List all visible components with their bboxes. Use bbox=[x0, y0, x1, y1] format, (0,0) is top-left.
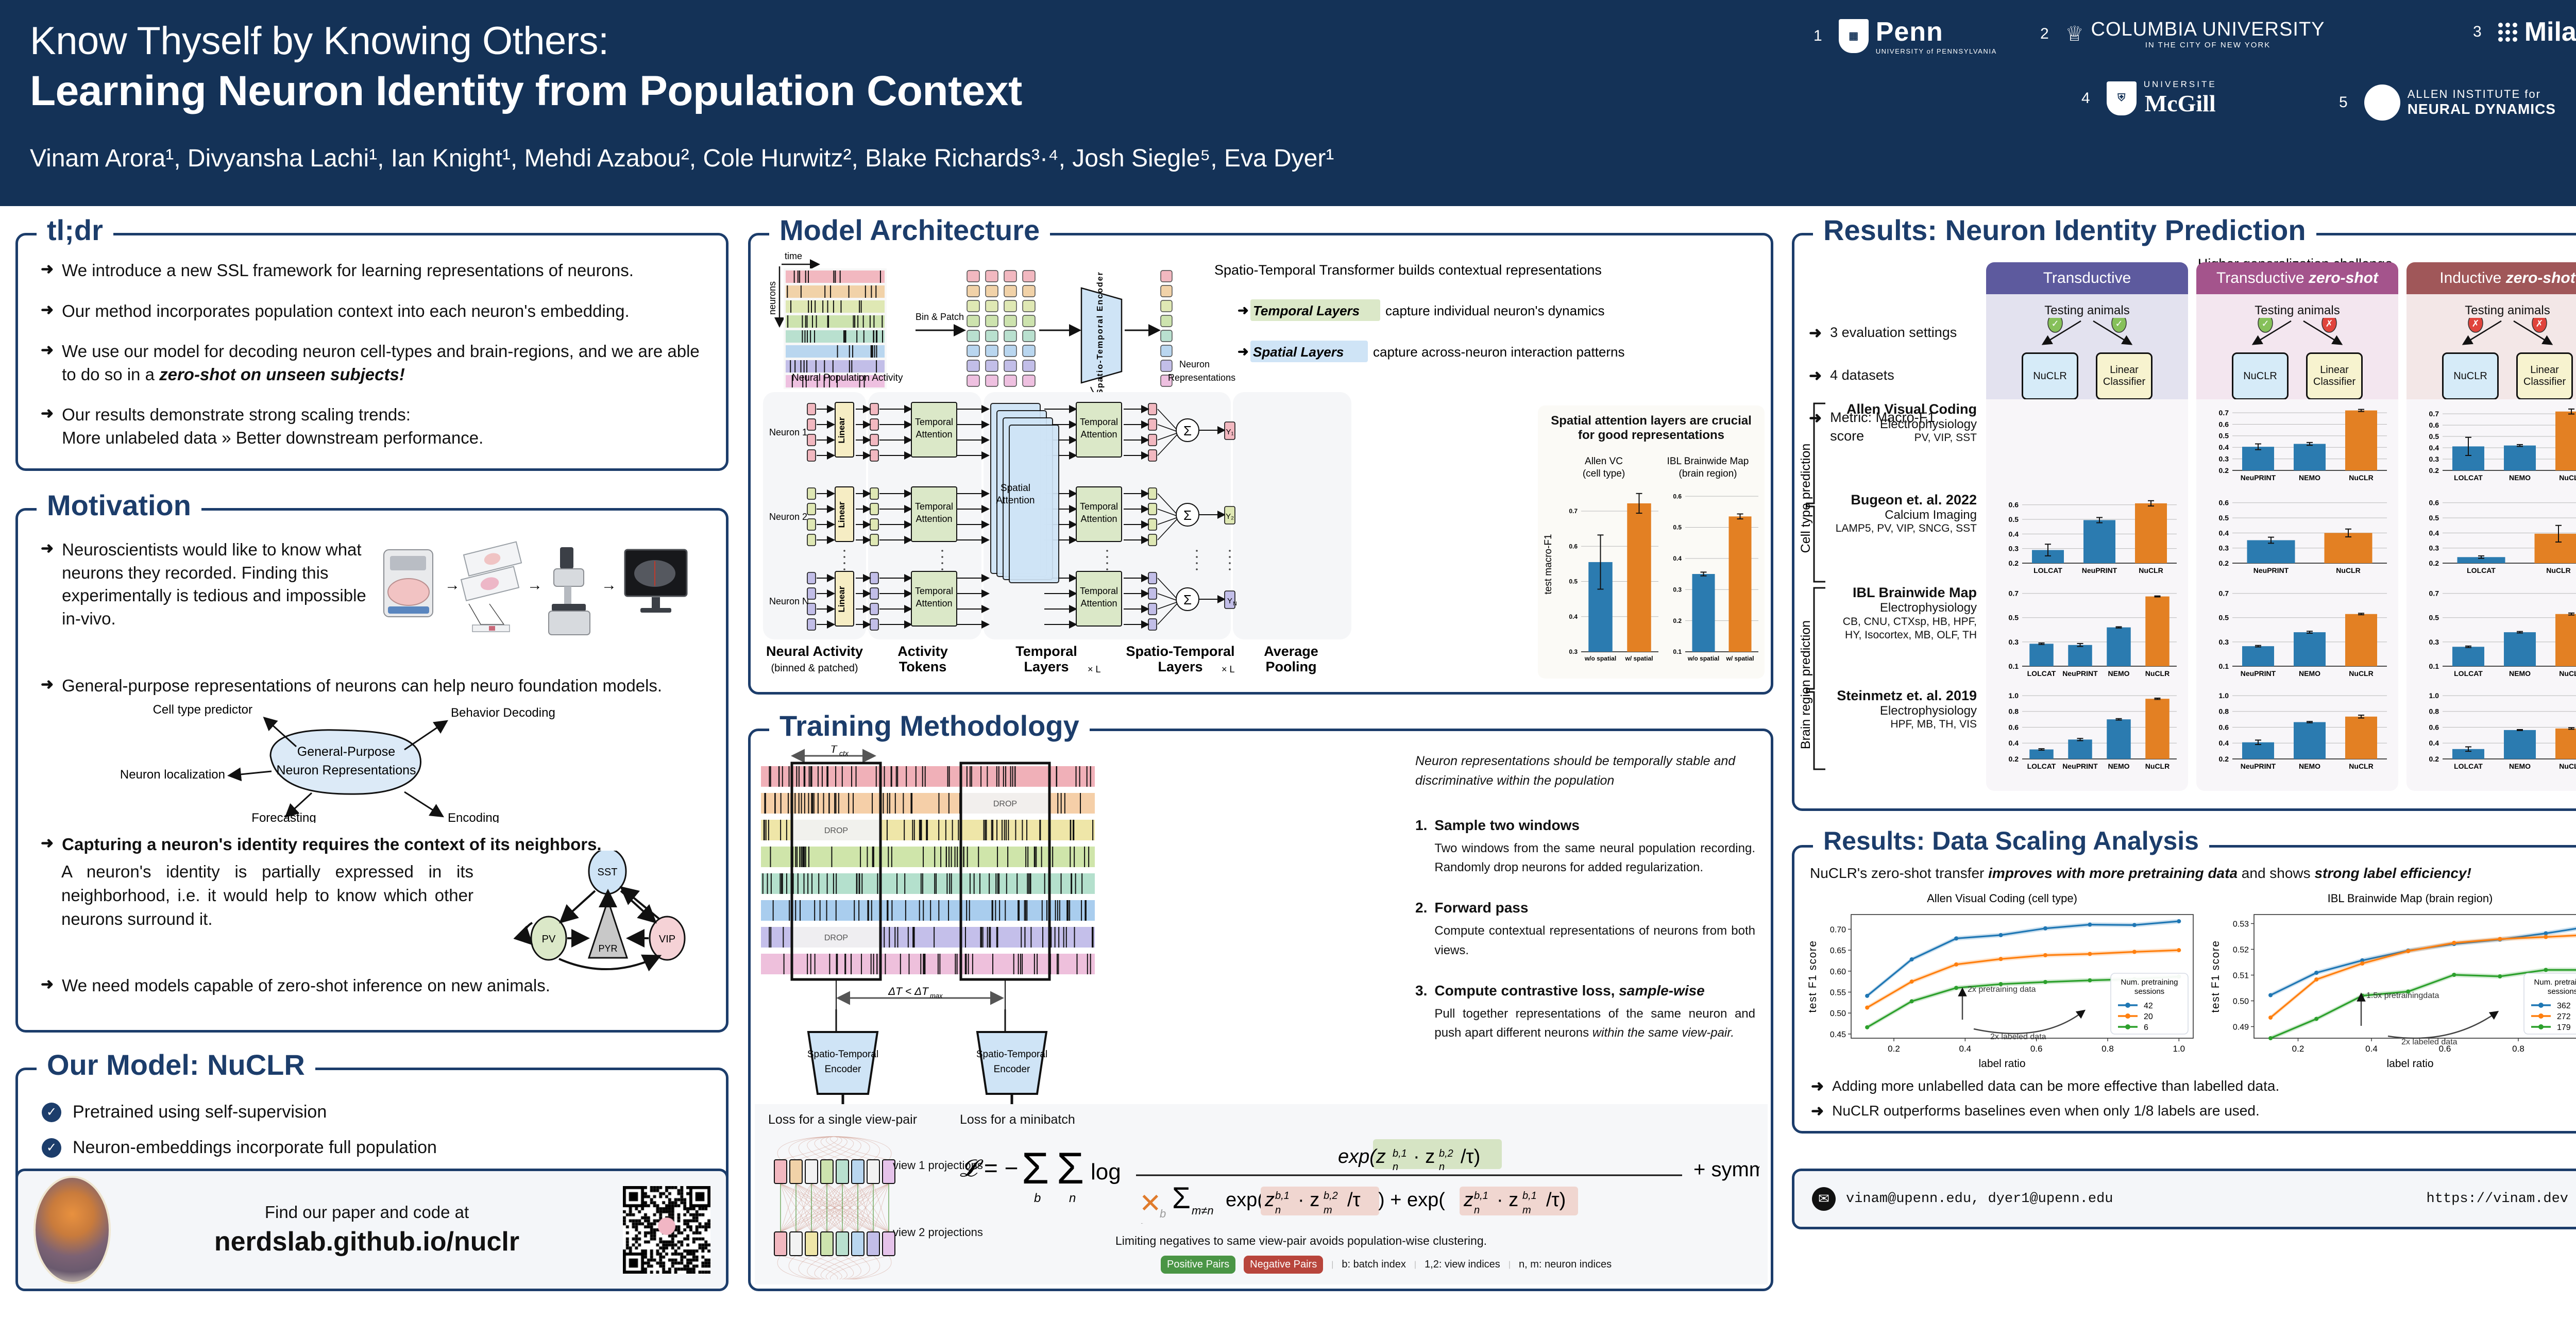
check-icon: ✓ bbox=[42, 1138, 61, 1158]
svg-text:Temporal: Temporal bbox=[1080, 501, 1118, 512]
setting-column-0: Transductive Testing animals ✓ ✓ NuCLR L… bbox=[1986, 262, 2188, 404]
page-title-line1: Know Thyself by Knowing Others: bbox=[30, 19, 609, 63]
panel-model-architecture: Model Architecture time neurons Bin & Pa… bbox=[748, 233, 1773, 695]
svg-text:0.53: 0.53 bbox=[2233, 920, 2249, 929]
svg-text:2x labeled data: 2x labeled data bbox=[2401, 1038, 2458, 1046]
svg-text:0.1: 0.1 bbox=[2009, 662, 2019, 670]
hub-spoke-diagram: General-Purpose Neuron Representations C… bbox=[95, 699, 626, 823]
training-step-2: 2. Forward pass Compute contextual repre… bbox=[1415, 900, 1755, 959]
tldr-bullet-1-text: We introduce a new SSL framework for lea… bbox=[62, 259, 634, 282]
columbia-name: COLUMBIA UNIVERSITY bbox=[2091, 19, 2325, 40]
chart-transductive-ibl: 0.10.30.50.7LOLCATNeuPRINTNEMONuCLR bbox=[1992, 586, 2182, 681]
step-3-title-em: sample-wise bbox=[1619, 983, 1705, 999]
svg-text:/τ: /τ bbox=[1347, 1189, 1361, 1211]
mila-name: Mila bbox=[2524, 16, 2576, 47]
architecture-overview-diagram: time neurons Bin & Patch Spatio-Temporal… bbox=[761, 248, 1766, 408]
setting-em: zero-shot bbox=[2506, 269, 2575, 286]
svg-text:0.6: 0.6 bbox=[2009, 501, 2019, 509]
svg-text:0.6: 0.6 bbox=[2429, 723, 2439, 731]
chart-izs-bugeon: 0.20.30.40.50.6LOLCATNuCLR bbox=[2413, 493, 2576, 578]
qr-code-icon[interactable] bbox=[623, 1186, 710, 1274]
bar-label: NEMO bbox=[2509, 762, 2531, 770]
dataset-list: Allen Visual Coding Electrophysiology PV… bbox=[1835, 401, 1977, 731]
scaling-headline-em2: strong label efficiency! bbox=[2314, 865, 2471, 881]
group-label-cell-type: Cell type prediction bbox=[1799, 444, 1813, 553]
svg-text:0.55: 0.55 bbox=[1830, 989, 1846, 997]
logo-columbia: ♕ COLUMBIA UNIVERSITY IN THE CITY OF NEW… bbox=[2065, 19, 2325, 49]
dataset-row-allen: Allen Visual Coding Electrophysiology PV… bbox=[1835, 401, 1977, 492]
prediction-group-braces: Cell type prediction Brain region predic… bbox=[1799, 400, 1835, 792]
svg-text:0.3: 0.3 bbox=[2219, 544, 2229, 552]
bar-label: NEMO bbox=[2108, 762, 2130, 770]
svg-text:0.6: 0.6 bbox=[2009, 723, 2019, 731]
bar-label: LOLCAT bbox=[2454, 669, 2483, 678]
legend-entry: 272 bbox=[2557, 1012, 2571, 1021]
dataset-row-ibl: IBL Brainwide Map Electrophysiology CB, … bbox=[1835, 585, 1977, 688]
arrow-icon: ➜ bbox=[41, 674, 54, 698]
cross-icon: ✗ bbox=[2535, 318, 2543, 329]
motivation-bullet-1: ➜ Neuroscientists would like to know wha… bbox=[41, 538, 370, 630]
loss-equation-strip: Loss for a single view-pair Loss for a m… bbox=[755, 1104, 1768, 1284]
model-feature-1-text: Pretrained using self-supervision bbox=[73, 1102, 327, 1122]
svg-text:b: b bbox=[1034, 1191, 1041, 1205]
chart-izs-allen: 0.20.30.40.50.60.7LOLCATNEMONuCLR bbox=[2413, 402, 2576, 485]
svg-text:0.5: 0.5 bbox=[2009, 515, 2019, 523]
lab-brain-logo-icon bbox=[33, 1176, 111, 1284]
allen-swirl-icon bbox=[2364, 84, 2400, 121]
scaling-headline: NuCLR's zero-shot transfer improves with… bbox=[1810, 865, 2576, 882]
svg-text:b,2: b,2 bbox=[1439, 1148, 1453, 1159]
svg-text:0.2: 0.2 bbox=[2429, 755, 2439, 763]
step-2-body: Compute contextual representations of ne… bbox=[1434, 921, 1755, 959]
stage-sub-temporal-layers: Layers bbox=[1024, 659, 1069, 674]
svg-text:0.2: 0.2 bbox=[2219, 559, 2229, 567]
temporal-layers-rest: capture individual neuron's dynamics bbox=[1385, 303, 1605, 318]
svg-text:0.4: 0.4 bbox=[2429, 739, 2439, 747]
logo-allen: ALLEN INSTITUTE for NEURAL DYNAMICS bbox=[2364, 84, 2556, 121]
svg-text:0.3: 0.3 bbox=[2429, 544, 2439, 552]
stage-label-spatiotemporal-layers: Spatio-Temporal bbox=[1126, 644, 1234, 659]
svg-text:Num. pretraining: Num. pretraining bbox=[2121, 978, 2178, 987]
svg-text:· z: · z bbox=[1413, 1146, 1435, 1168]
svg-text:0.2: 0.2 bbox=[2009, 755, 2019, 763]
svg-text:→: → bbox=[527, 577, 543, 594]
svg-text:0.5: 0.5 bbox=[2429, 514, 2439, 522]
temporal-layers-em: Temporal Layers bbox=[1253, 303, 1360, 318]
bar-label: NEMO bbox=[2299, 762, 2320, 770]
svg-text:DROP: DROP bbox=[824, 826, 848, 835]
arrow-icon: ➜ bbox=[41, 538, 54, 630]
envelope-icon: ✉ bbox=[1812, 1187, 1836, 1211]
setting-header-1: Transductive zero-shot bbox=[2196, 262, 2398, 294]
contact-email-text: vinam@upenn.edu, dyer1@upenn.edu bbox=[1846, 1191, 2113, 1207]
cross-icon: ✗ bbox=[2471, 318, 2479, 329]
svg-text:0.2: 0.2 bbox=[2219, 466, 2229, 475]
svg-text:ctx: ctx bbox=[839, 749, 849, 757]
dataset-classes-allen: PV, VIP, SST bbox=[1835, 432, 1977, 444]
penn-crest-icon: ▦ bbox=[1839, 19, 1869, 53]
svg-text:0.4: 0.4 bbox=[2219, 739, 2229, 747]
svg-text:z: z bbox=[1463, 1189, 1473, 1211]
bar-label: NuCLR bbox=[2559, 762, 2576, 770]
svg-text:Attention: Attention bbox=[916, 429, 952, 439]
bar-label: LOLCAT bbox=[2027, 669, 2056, 678]
bar-label: NEMO bbox=[2299, 474, 2320, 482]
scaling-bullet-1-text: Adding more unlabelled data can be more … bbox=[1832, 1076, 2279, 1097]
arch-headline: Spatio-Temporal Transformer builds conte… bbox=[1214, 262, 1602, 278]
panel-motivation: Motivation ➜ Neuroscientists would like … bbox=[15, 508, 728, 1033]
svg-text:b,1: b,1 bbox=[1393, 1148, 1407, 1159]
bar-label: LOLCAT bbox=[2454, 474, 2483, 482]
setting-header-2: Inductive zero-shot bbox=[2406, 262, 2576, 294]
columbia-sub: IN THE CITY OF NEW YORK bbox=[2091, 41, 2325, 49]
svg-text:label ratio: label ratio bbox=[1978, 1058, 2025, 1070]
svg-text:0.8: 0.8 bbox=[2219, 707, 2229, 716]
motivation-bullet-2-text: General-purpose representations of neuro… bbox=[62, 674, 662, 698]
step-1-body: Two windows from the same neural populat… bbox=[1434, 839, 1755, 877]
mcgill-name: McGill bbox=[2145, 90, 2216, 116]
svg-text:0.7: 0.7 bbox=[2429, 410, 2439, 418]
panel-title-results-scaling: Results: Data Scaling Analysis bbox=[1813, 828, 2209, 854]
training-step-1: 1. Sample two windows Two windows from t… bbox=[1415, 817, 1755, 877]
svg-text:0.6: 0.6 bbox=[2219, 723, 2229, 731]
svg-text:0.45: 0.45 bbox=[1830, 1030, 1846, 1039]
testing-animals-label: Testing animals bbox=[2406, 294, 2576, 318]
step-3-body-em: within the same view-pair. bbox=[1592, 1026, 1734, 1040]
panel-tldr: tl;dr ➜ We introduce a new SSL framework… bbox=[15, 233, 728, 471]
panel-title-tldr: tl;dr bbox=[37, 216, 113, 245]
step-2-number: 2. bbox=[1415, 900, 1427, 959]
results-bullet-2-text: 4 datasets bbox=[1830, 366, 1894, 387]
svg-text:0.7: 0.7 bbox=[1569, 508, 1578, 515]
bar-label: NeuPRINT bbox=[2062, 762, 2098, 770]
tldr-bullet-3-em: zero-shot on unseen subjects! bbox=[159, 365, 405, 384]
spoke-forecasting: Forecasting bbox=[251, 811, 316, 823]
setting-body-2: Testing animals ✗ ✗ NuCLR LinearClassifi… bbox=[2406, 294, 2576, 404]
stage-sub-spatiotemporal-layers: Layers bbox=[1158, 659, 1202, 674]
svg-text:m: m bbox=[1324, 1205, 1332, 1216]
spatial-ablation-inset: Spatial attention layers are crucial for… bbox=[1538, 405, 1765, 679]
model-box-linear-classifier: LinearClassifier bbox=[2516, 352, 2573, 400]
svg-text:DROP: DROP bbox=[824, 934, 848, 942]
circuit-node-pv: PV bbox=[542, 934, 556, 945]
tldr-bullet-2: ➜ Our method incorporates population con… bbox=[41, 300, 705, 323]
motivation-bullet-3-rest: A neuron's identity is partially express… bbox=[61, 860, 473, 932]
logo-mila: Mila bbox=[2498, 16, 2576, 47]
panel-title-training: Training Methodology bbox=[769, 712, 1090, 740]
svg-text:+ symm.: + symm. bbox=[1693, 1158, 1759, 1181]
bar-label: NeuPRINT bbox=[2082, 566, 2117, 574]
model-box-nuclr: NuCLR bbox=[2442, 352, 2499, 400]
view2-label: view 2 projections bbox=[893, 1226, 983, 1239]
svg-text:(brain region): (brain region) bbox=[1679, 468, 1737, 479]
stage-label-activity-tokens: Activity bbox=[897, 644, 948, 659]
legend-neuron-indices: n, m: neuron indices bbox=[1519, 1259, 1612, 1271]
contact-website[interactable]: https://vinam.dev ⊕ bbox=[2427, 1187, 2576, 1211]
setting-header-0: Transductive bbox=[1986, 262, 2188, 294]
svg-text:0.49: 0.49 bbox=[2233, 1023, 2249, 1032]
svg-text:n: n bbox=[1474, 1205, 1480, 1216]
results-bullet-2: ➜ 4 datasets bbox=[1809, 366, 1963, 387]
equation-legend: Positive Pairs Negative Pairs | b: batch… bbox=[1161, 1256, 1612, 1274]
svg-text:➜: ➜ bbox=[1238, 302, 1249, 318]
contact-email[interactable]: ✉ vinam@upenn.edu, dyer1@upenn.edu bbox=[1812, 1187, 2113, 1211]
view-pair-projection-graph bbox=[765, 1130, 956, 1279]
panel-title-results-identity: Results: Neuron Identity Prediction bbox=[1813, 216, 2316, 245]
panel-results-identity: Results: Neuron Identity Prediction High… bbox=[1792, 233, 2576, 811]
model-feature-2-text: Neuron-embeddings incorporate full popul… bbox=[73, 1138, 437, 1158]
setting-charts-0: 0.20.30.40.50.6LOLCATNeuPRINTNuCLR0.10.3… bbox=[1986, 399, 2188, 791]
dataset-modality-allen: Electrophysiology bbox=[1835, 417, 1977, 432]
svg-text:Attention: Attention bbox=[916, 598, 952, 608]
setting-body-1: Testing animals ✓ ✗ NuCLR LinearClassifi… bbox=[2196, 294, 2398, 404]
affiliation-number-3: 3 bbox=[2473, 23, 2482, 41]
neuron-reps-label-1: Neuron bbox=[1179, 359, 1210, 369]
svg-text:Temporal: Temporal bbox=[1080, 586, 1118, 596]
tctx-label: T bbox=[831, 746, 838, 755]
loss-batch-title: Loss for a minibatch bbox=[960, 1112, 1075, 1127]
svg-text:0.1: 0.1 bbox=[1673, 648, 1682, 655]
repeat-st-label: × L bbox=[1222, 664, 1235, 674]
svg-text:0.50: 0.50 bbox=[1830, 1009, 1846, 1018]
scaling-bullet-2: ➜ NuCLR outperforms baselines even when … bbox=[1811, 1101, 2260, 1122]
svg-text:Σ: Σ bbox=[1183, 592, 1192, 607]
svg-text:Temporal: Temporal bbox=[915, 501, 953, 512]
svg-text:0.6: 0.6 bbox=[2429, 421, 2439, 429]
svg-text:Attention: Attention bbox=[916, 514, 952, 524]
arrow-icon: ➜ bbox=[1809, 366, 1822, 387]
tldr-bullet-4-text: Our results demonstrate strong scaling t… bbox=[62, 403, 483, 449]
setting-body-0: Testing animals ✓ ✓ NuCLR LinearClassifi… bbox=[1986, 294, 2188, 404]
svg-text:Σ: Σ bbox=[1183, 423, 1192, 438]
panel-title-our-model: Our Model: NuCLR bbox=[37, 1051, 315, 1079]
svg-text:Attention: Attention bbox=[1080, 514, 1117, 524]
legend-entry: 42 bbox=[2144, 1002, 2153, 1010]
spoke-behavior-decoding: Behavior Decoding bbox=[451, 706, 555, 720]
mcgill-crest-icon: ⛨ bbox=[2107, 81, 2137, 115]
bin-patch-label: Bin & Patch bbox=[916, 312, 964, 322]
dataset-classes-ibl: CB, CNU, CTXsp, HB, HPF, HY, Isocortex, … bbox=[1835, 615, 1977, 642]
svg-text:0.4: 0.4 bbox=[2009, 530, 2019, 538]
svg-text:0.3: 0.3 bbox=[2219, 455, 2229, 463]
svg-text:0.8: 0.8 bbox=[2429, 707, 2439, 716]
svg-text:N: N bbox=[1233, 601, 1237, 607]
axis-label-time: time bbox=[785, 251, 802, 261]
bar-label: NuCLR bbox=[2559, 474, 2576, 482]
svg-text:b,1: b,1 bbox=[1474, 1190, 1488, 1202]
dataset-modality-bugeon: Calcium Imaging bbox=[1835, 508, 1977, 522]
svg-text:0.7: 0.7 bbox=[2009, 589, 2019, 598]
svg-text:Attention: Attention bbox=[1080, 598, 1117, 608]
motivation-bullet-1-text: Neuroscientists would like to know what … bbox=[62, 538, 370, 630]
bar-label: NuCLR bbox=[2559, 669, 2576, 678]
bar-label: NuCLR bbox=[2349, 762, 2373, 770]
svg-text:0.5: 0.5 bbox=[2429, 432, 2439, 441]
view2-text: view 2 projections bbox=[893, 1226, 983, 1239]
contact-website-text: https://vinam.dev bbox=[2427, 1191, 2568, 1207]
dataset-row-steinmetz: Steinmetz et. al. 2019 Electrophysiology… bbox=[1835, 688, 1977, 731]
svg-text:test F1 score: test F1 score bbox=[1807, 940, 1819, 1013]
bar-label: w/ spatial bbox=[1725, 655, 1754, 662]
svg-text:Neuron N: Neuron N bbox=[769, 596, 809, 606]
bar-label: w/o spatial bbox=[1687, 655, 1719, 662]
svg-text:DROP: DROP bbox=[993, 800, 1017, 808]
svg-text:Σ: Σ bbox=[1172, 1181, 1191, 1215]
dataset-name-ibl: IBL Brainwide Map bbox=[1835, 585, 1977, 601]
chart-tzs-allen: 0.20.30.40.50.60.7NeuPRINTNEMONuCLR bbox=[2202, 402, 2392, 485]
svg-text:0.6: 0.6 bbox=[2429, 499, 2439, 507]
step-3-number: 3. bbox=[1415, 983, 1427, 1042]
stage-label-neural-activity: Neural Activity bbox=[766, 644, 863, 659]
svg-text:IBL Brainwide Map (brain regio: IBL Brainwide Map (brain region) bbox=[2328, 892, 2493, 905]
svg-text:0.52: 0.52 bbox=[2233, 946, 2249, 955]
bar-label: NuCLR bbox=[2145, 762, 2170, 770]
step-1-number: 1. bbox=[1415, 817, 1427, 877]
mila-dots-icon bbox=[2498, 23, 2517, 42]
svg-text:sessions: sessions bbox=[2134, 987, 2164, 996]
svg-text:0.5: 0.5 bbox=[2219, 614, 2229, 622]
check-icon: ✓ bbox=[2261, 318, 2269, 329]
results-bullet-1: ➜ 3 evaluation settings bbox=[1809, 323, 1963, 344]
svg-text:1.0: 1.0 bbox=[2429, 691, 2439, 700]
legend-entry: 179 bbox=[2557, 1023, 2571, 1032]
svg-text:0.5: 0.5 bbox=[1673, 524, 1682, 531]
svg-text:𝓛 = −: 𝓛 = − bbox=[960, 1155, 1018, 1181]
svg-text:Neuron 1: Neuron 1 bbox=[769, 427, 807, 437]
svg-text:z: z bbox=[1264, 1189, 1275, 1211]
svg-text:) + exp(: ) + exp( bbox=[1378, 1189, 1445, 1211]
svg-text:b,1: b,1 bbox=[1275, 1190, 1290, 1202]
cross-icon: ✗ bbox=[2325, 318, 2333, 329]
circuit-node-vip: VIP bbox=[659, 934, 675, 945]
svg-text:Spatial: Spatial bbox=[1001, 483, 1030, 494]
penn-name: Penn bbox=[1876, 17, 1943, 47]
stage-sub-activity-tokens: Tokens bbox=[899, 659, 947, 674]
scaling-headline-pre: NuCLR's zero-shot transfer bbox=[1810, 865, 1988, 881]
legend-entry: 20 bbox=[2144, 1012, 2153, 1021]
panel-training-methodology: Training Methodology T ctx DROPDROPDROP … bbox=[748, 729, 1773, 1291]
circuit-node-sst: SST bbox=[598, 867, 618, 878]
allen-name: NEURAL DYNAMICS bbox=[2408, 101, 2556, 117]
training-diagram: T ctx DROPDROPDROP ΔT < ΔT max Spatio-Te… bbox=[759, 746, 1403, 1158]
svg-text:→: → bbox=[445, 577, 460, 594]
svg-text:0.1: 0.1 bbox=[2429, 662, 2439, 670]
neuron-reps-label-2: Representations bbox=[1168, 373, 1235, 383]
legend-entry: 6 bbox=[2144, 1023, 2148, 1032]
svg-text:0.7: 0.7 bbox=[2219, 409, 2229, 417]
dataset-modality-ibl: Electrophysiology bbox=[1835, 601, 1977, 615]
model-box-linear-classifier: LinearClassifier bbox=[2096, 352, 2153, 400]
contrastive-loss-equation: 𝓛 = − Σ b Σ n log exp(z b,1 n · z b,2 n … bbox=[956, 1126, 1759, 1224]
check-icon: ✓ bbox=[42, 1103, 61, 1122]
svg-text:0.2: 0.2 bbox=[1888, 1044, 1900, 1054]
svg-text:0.60: 0.60 bbox=[1830, 968, 1846, 976]
tldr-bullet-3: ➜ We use our model for decoding neuron c… bbox=[41, 340, 705, 386]
arrow-icon: ➜ bbox=[41, 403, 54, 449]
svg-text:0.4: 0.4 bbox=[2429, 529, 2439, 537]
svg-text:/τ): /τ) bbox=[1546, 1189, 1566, 1211]
arrow-icon: ➜ bbox=[1811, 1076, 1824, 1097]
panel-title-model-architecture: Model Architecture bbox=[769, 216, 1050, 245]
bar-label: NuCLR bbox=[2139, 566, 2163, 574]
spoke-encoding: Encoding bbox=[448, 811, 499, 823]
setting-charts-2: 0.20.30.40.50.60.7LOLCATNEMONuCLR0.20.30… bbox=[2406, 399, 2576, 791]
spatial-layers-em: Spatial Layers bbox=[1253, 344, 1344, 360]
microcircuit-diagram: SST PV VIP PYR bbox=[513, 851, 698, 979]
bar-label: NuCLR bbox=[2546, 566, 2570, 574]
setting-column-1: Transductive zero-shot Testing animals ✓… bbox=[2196, 262, 2398, 404]
svg-text:→: → bbox=[601, 577, 617, 594]
affiliation-number-4: 4 bbox=[2081, 90, 2090, 107]
svg-text:Temporal: Temporal bbox=[1080, 417, 1118, 427]
dataset-classes-steinmetz: HPF, MB, TH, VIS bbox=[1835, 718, 1977, 731]
motivation-bullet-4: ➜ We need models capable of zero-shot in… bbox=[41, 974, 695, 997]
svg-text:0.8: 0.8 bbox=[2009, 707, 2019, 716]
arrow-icon: ➜ bbox=[1809, 323, 1822, 344]
svg-text:0.2: 0.2 bbox=[2219, 755, 2229, 763]
step-3-title-pre: Compute contrastive loss, bbox=[1434, 983, 1619, 999]
bar-label: w/ spatial bbox=[1624, 655, 1653, 662]
setting-em: zero-shot bbox=[2309, 269, 2378, 286]
svg-text:0.2: 0.2 bbox=[1673, 617, 1682, 624]
svg-text:0.5: 0.5 bbox=[2429, 614, 2439, 622]
chart-transductive-bugeon: 0.20.30.40.50.6LOLCATNeuPRINTNuCLR bbox=[1992, 493, 2182, 578]
svg-text:/τ): /τ) bbox=[1461, 1146, 1480, 1168]
svg-text:0.8: 0.8 bbox=[2512, 1044, 2524, 1054]
allen-sub: ALLEN INSTITUTE for bbox=[2408, 88, 2541, 100]
setting-arrows: ✗ ✗ bbox=[2406, 318, 2576, 349]
svg-text:0.3: 0.3 bbox=[2429, 638, 2439, 646]
model-feature-2: ✓ Neuron-embeddings incorporate full pop… bbox=[42, 1138, 707, 1158]
chart-scaling-allen: Allen Visual Coding (cell type)0.450.500… bbox=[1804, 891, 2200, 1072]
svg-text:Temporal: Temporal bbox=[915, 586, 953, 596]
svg-text:Neuron 2: Neuron 2 bbox=[769, 512, 807, 522]
affiliation-number-2: 2 bbox=[2040, 25, 2049, 43]
svg-text:0.4: 0.4 bbox=[1673, 555, 1682, 562]
svg-text:Linear: Linear bbox=[837, 501, 846, 528]
chart-scaling-ibl: IBL Brainwide Map (brain region)0.490.50… bbox=[2207, 891, 2576, 1072]
svg-text:m: m bbox=[1522, 1205, 1531, 1216]
svg-text:0.50: 0.50 bbox=[2233, 997, 2249, 1006]
encoder-left-line1: Spatio-Temporal bbox=[807, 1049, 878, 1060]
bar-label: NEMO bbox=[2108, 669, 2130, 678]
paper-link-url[interactable]: nerdslab.github.io/nuclr bbox=[126, 1226, 607, 1257]
model-feature-1: ✓ Pretrained using self-supervision bbox=[42, 1102, 707, 1122]
svg-text:Allen VC: Allen VC bbox=[1585, 456, 1623, 467]
svg-text:0.5: 0.5 bbox=[1569, 578, 1578, 585]
svg-text:test macro-F1: test macro-F1 bbox=[1543, 534, 1554, 594]
svg-text:1.0: 1.0 bbox=[2173, 1044, 2185, 1054]
chart-transductive-steinmetz: 0.20.40.60.81.0LOLCATNeuPRINTNEMONuCLR bbox=[1992, 689, 2182, 773]
mcgill-sub: UNIVERSITE bbox=[2144, 79, 2217, 90]
tldr-bullets: ➜ We introduce a new SSL framework for l… bbox=[18, 235, 726, 477]
bar-label: LOLCAT bbox=[2033, 566, 2062, 574]
svg-text:exp(z: exp(z bbox=[1338, 1146, 1386, 1168]
setting-arrows: ✓ ✗ bbox=[2196, 318, 2398, 349]
legend-positive-pairs: Positive Pairs bbox=[1161, 1256, 1235, 1274]
svg-text:n: n bbox=[1439, 1161, 1445, 1173]
svg-text:0.6: 0.6 bbox=[1569, 543, 1578, 550]
setting-label: Inductive bbox=[2439, 269, 2505, 286]
encoder-right-line2: Encoder bbox=[994, 1064, 1030, 1075]
training-steps: Neuron representations should be tempora… bbox=[1415, 752, 1755, 1042]
svg-text:Attention: Attention bbox=[996, 495, 1035, 506]
svg-text:0.2: 0.2 bbox=[2009, 559, 2019, 567]
scaling-headline-mid: and shows bbox=[2238, 865, 2314, 881]
svg-text:Y: Y bbox=[1227, 597, 1232, 605]
encoder-left-line2: Encoder bbox=[825, 1064, 861, 1075]
svg-text:1.5x pretrainingdata: 1.5x pretrainingdata bbox=[2366, 991, 2439, 1000]
